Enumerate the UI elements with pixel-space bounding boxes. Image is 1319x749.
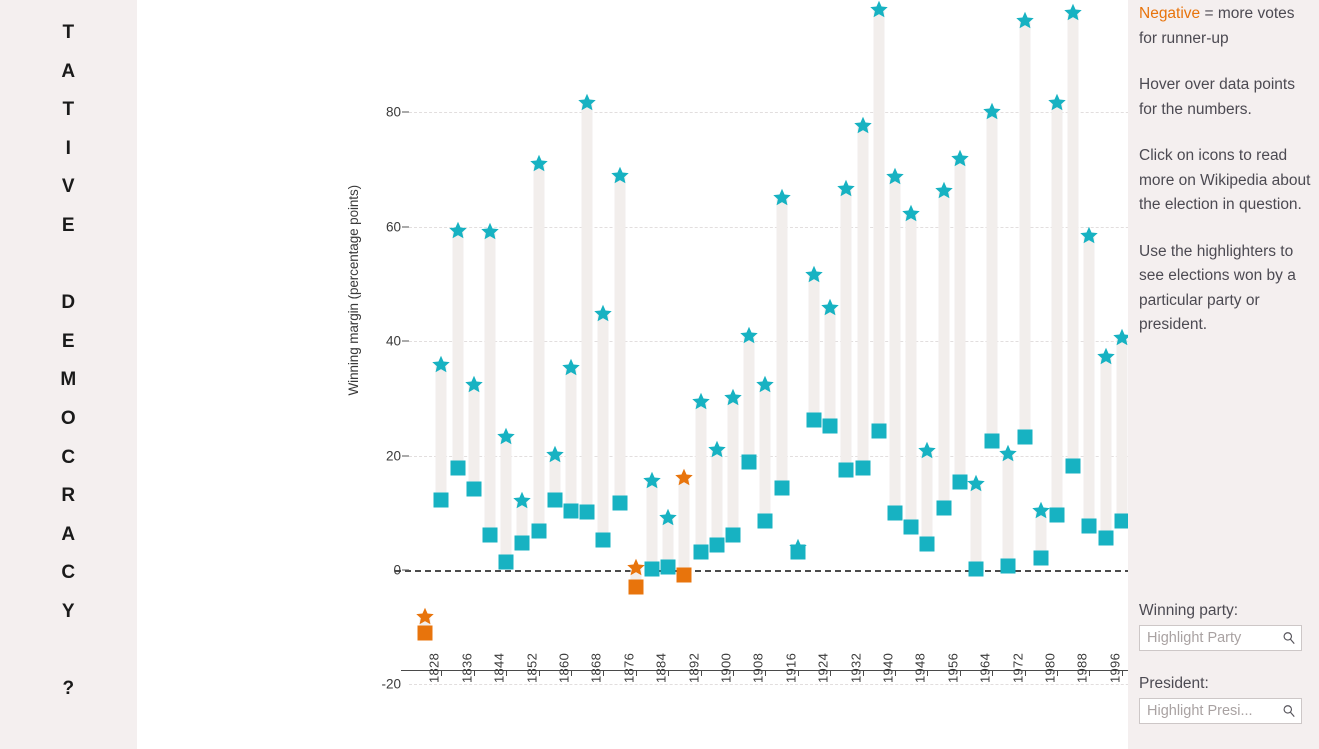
- title-letter: ?: [0, 670, 137, 709]
- electoral-margin-star[interactable]: [432, 355, 451, 374]
- plot-area: [409, 0, 1219, 670]
- electoral-margin-star[interactable]: [1080, 226, 1099, 245]
- election-bar: [938, 190, 949, 507]
- electoral-margin-star[interactable]: [659, 508, 678, 527]
- electoral-margin-star[interactable]: [950, 149, 969, 168]
- gridline: [409, 684, 1219, 685]
- spacer: [1139, 122, 1311, 144]
- x-tick-label: 1924: [816, 653, 831, 683]
- title-letter: A: [0, 53, 137, 92]
- electoral-margin-star[interactable]: [626, 558, 645, 577]
- election-bar: [598, 313, 609, 540]
- election-bar: [728, 397, 739, 535]
- electoral-margin-star[interactable]: [934, 181, 953, 200]
- title-letter: T: [0, 91, 137, 130]
- title-letter: E: [0, 207, 137, 246]
- election-bar: [760, 384, 771, 521]
- election-bar: [971, 483, 982, 569]
- electoral-margin-star[interactable]: [464, 375, 483, 394]
- popular-margin-square[interactable]: [531, 523, 546, 538]
- election-bar: [647, 480, 658, 570]
- title-letter: C: [0, 554, 137, 593]
- x-tick-mark: [603, 670, 604, 676]
- electoral-margin-star[interactable]: [481, 221, 500, 240]
- popular-margin-square[interactable]: [1098, 530, 1113, 545]
- popular-margin-square[interactable]: [758, 513, 773, 528]
- election-bar: [809, 274, 820, 420]
- note-negative-definition: Negative = more votes for runner-up: [1139, 2, 1311, 51]
- title-letter: O: [0, 400, 137, 439]
- president-input[interactable]: [1147, 703, 1282, 719]
- x-tick-label: 1988: [1075, 653, 1090, 683]
- electoral-margin-star[interactable]: [1096, 346, 1115, 365]
- popular-margin-square[interactable]: [515, 535, 530, 550]
- election-bar: [679, 477, 690, 574]
- note-hover: Hover over data points for the numbers.: [1139, 73, 1311, 122]
- election-bar: [857, 125, 868, 468]
- y-tick-label: 80: [337, 105, 401, 120]
- popular-margin-square[interactable]: [580, 505, 595, 520]
- x-tick-label: 1940: [881, 653, 896, 683]
- popular-margin-square[interactable]: [1017, 430, 1032, 445]
- popular-margin-square[interactable]: [418, 625, 433, 640]
- x-tick-mark: [765, 670, 766, 676]
- electoral-margin-star[interactable]: [643, 470, 662, 489]
- x-tick-label: 1868: [589, 653, 604, 683]
- electoral-margin-star[interactable]: [837, 179, 856, 198]
- x-tick-label: 1980: [1043, 653, 1058, 683]
- election-bar: [501, 436, 512, 562]
- x-tick-label: 1956: [945, 653, 960, 683]
- popular-margin-square[interactable]: [709, 538, 724, 553]
- electoral-margin-star[interactable]: [545, 445, 564, 464]
- title-letter: I: [0, 130, 137, 169]
- x-tick-label: 1828: [427, 653, 442, 683]
- popular-margin-square[interactable]: [952, 474, 967, 489]
- electoral-margin-star[interactable]: [691, 392, 710, 411]
- election-bar: [582, 102, 593, 512]
- note-negative-keyword: Negative: [1139, 5, 1200, 22]
- electoral-margin-star[interactable]: [529, 153, 548, 172]
- electoral-margin-star[interactable]: [740, 326, 759, 345]
- electoral-margin-star[interactable]: [448, 220, 467, 239]
- popular-margin-square[interactable]: [499, 554, 514, 569]
- left-title-rail: TATIVE.DEMOCRACY.?: [0, 0, 137, 749]
- y-tick-label: 40: [337, 334, 401, 349]
- electoral-margin-star[interactable]: [513, 490, 532, 509]
- election-bar: [1052, 102, 1063, 514]
- election-bar: [841, 188, 852, 470]
- popular-margin-square[interactable]: [807, 413, 822, 428]
- x-tick-mark: [1089, 670, 1090, 676]
- x-tick-label: 1948: [913, 653, 928, 683]
- electoral-margin-star[interactable]: [821, 297, 840, 316]
- electoral-margin-star[interactable]: [772, 188, 791, 207]
- search-icon[interactable]: [1282, 631, 1296, 645]
- popular-margin-square[interactable]: [1001, 558, 1016, 573]
- x-tick-label: 1900: [719, 653, 734, 683]
- electoral-margin-star[interactable]: [869, 0, 888, 19]
- title-letter: R: [0, 477, 137, 516]
- x-tick-label: 1860: [557, 653, 572, 683]
- president-label: President:: [1139, 675, 1302, 693]
- title-letter: D: [0, 284, 137, 323]
- x-tick-label: 1932: [848, 653, 863, 683]
- electoral-margin-star[interactable]: [416, 606, 435, 625]
- election-bar: [695, 401, 706, 552]
- electoral-margin-star[interactable]: [983, 101, 1002, 120]
- electoral-margin-star[interactable]: [853, 115, 872, 134]
- election-bar: [1003, 453, 1014, 566]
- x-tick-mark: [441, 670, 442, 676]
- popular-margin-square[interactable]: [645, 562, 660, 577]
- y-tick-label: -20: [337, 677, 401, 692]
- x-tick-label: 1964: [978, 653, 993, 683]
- electoral-margin-star[interactable]: [675, 468, 694, 487]
- x-tick-label: 1884: [654, 653, 669, 683]
- popular-margin-square[interactable]: [466, 481, 481, 496]
- title-letter: E: [0, 323, 137, 362]
- election-bar: [825, 307, 836, 426]
- popular-margin-square[interactable]: [726, 528, 741, 543]
- electoral-margin-star[interactable]: [707, 439, 726, 458]
- popular-margin-square[interactable]: [936, 500, 951, 515]
- popular-margin-square[interactable]: [1082, 518, 1097, 533]
- election-bar: [954, 158, 965, 482]
- election-bar: [922, 450, 933, 544]
- popular-margin-square[interactable]: [790, 545, 805, 560]
- winning-party-label: Winning party:: [1139, 602, 1302, 620]
- y-tick-label: 60: [337, 219, 401, 234]
- dashboard-root: TATIVE.DEMOCRACY.? Winning margin (perce…: [0, 0, 1319, 749]
- electoral-margin-star[interactable]: [918, 440, 937, 459]
- title-letter: C: [0, 439, 137, 478]
- y-tick-mark: [402, 570, 409, 571]
- x-tick-label: 1836: [459, 653, 474, 683]
- popular-margin-square[interactable]: [742, 455, 757, 470]
- popular-margin-square[interactable]: [677, 567, 692, 582]
- election-bar: [614, 175, 625, 502]
- election-bar: [744, 335, 755, 462]
- x-tick-label: 1996: [1107, 653, 1122, 683]
- president-filter[interactable]: [1139, 698, 1302, 724]
- election-bar: [533, 163, 544, 531]
- zero-baseline: [395, 570, 1221, 572]
- x-tick-label: 1916: [783, 653, 798, 683]
- election-bar: [1019, 20, 1030, 438]
- popular-margin-square[interactable]: [823, 418, 838, 433]
- y-tick-label: 20: [337, 448, 401, 463]
- spacer: [1139, 218, 1311, 240]
- electoral-margin-star[interactable]: [756, 374, 775, 393]
- x-tick-label: 1972: [1010, 653, 1025, 683]
- right-sidebar: Negative = more votes for runner-up Hove…: [1128, 0, 1319, 749]
- electoral-margin-star[interactable]: [610, 166, 629, 185]
- popular-margin-square[interactable]: [774, 480, 789, 495]
- election-bar: [485, 231, 496, 535]
- x-tick-label: 1852: [524, 653, 539, 683]
- popular-margin-square[interactable]: [450, 461, 465, 476]
- chart-pane: Winning margin (percentage points) -2002…: [137, 0, 1128, 749]
- popular-margin-square[interactable]: [871, 424, 886, 439]
- election-bar: [873, 9, 884, 431]
- y-axis-label: Winning margin (percentage points): [346, 185, 361, 395]
- title-letter: A: [0, 516, 137, 555]
- election-bar: [890, 176, 901, 513]
- x-tick-label: 1844: [492, 653, 507, 683]
- electoral-margin-star[interactable]: [578, 93, 597, 112]
- popular-margin-square[interactable]: [612, 495, 627, 510]
- popular-margin-square[interactable]: [839, 463, 854, 478]
- electoral-margin-star[interactable]: [1064, 2, 1083, 21]
- electoral-margin-star[interactable]: [562, 357, 581, 376]
- election-bar: [452, 230, 463, 469]
- popular-margin-square[interactable]: [1066, 458, 1081, 473]
- popular-margin-square[interactable]: [661, 559, 676, 574]
- popular-margin-square[interactable]: [693, 545, 708, 560]
- title-letter: V: [0, 168, 137, 207]
- popular-margin-square[interactable]: [434, 492, 449, 507]
- electoral-margin-star[interactable]: [1048, 93, 1067, 112]
- title-letter: Y: [0, 593, 137, 632]
- electoral-margin-star[interactable]: [1015, 10, 1034, 29]
- electoral-margin-star[interactable]: [497, 426, 516, 445]
- election-bar: [1100, 356, 1111, 538]
- electoral-margin-star[interactable]: [999, 443, 1018, 462]
- election-bar: [906, 213, 917, 527]
- popular-margin-square[interactable]: [1050, 507, 1065, 522]
- title-letter: M: [0, 361, 137, 400]
- electoral-margin-star[interactable]: [1031, 500, 1050, 519]
- election-bar: [468, 384, 479, 489]
- vertical-page-title: TATIVE.DEMOCRACY.?: [0, 14, 137, 709]
- y-tick-label: 0: [337, 563, 401, 578]
- note-highlighters: Use the highlighters to see elections wo…: [1139, 240, 1311, 338]
- popular-margin-square[interactable]: [904, 520, 919, 535]
- x-tick-mark: [927, 670, 928, 676]
- election-bar: [711, 449, 722, 546]
- filter-controls: Winning party: President:: [1139, 602, 1302, 724]
- electoral-margin-star[interactable]: [724, 387, 743, 406]
- electoral-margin-star[interactable]: [902, 204, 921, 223]
- election-bar: [987, 111, 998, 441]
- x-tick-label: 1908: [751, 653, 766, 683]
- y-tick-mark: [402, 455, 409, 456]
- election-bar: [1084, 235, 1095, 526]
- note-click-icons: Click on icons to read more on Wikipedia…: [1139, 144, 1311, 218]
- electoral-margin-star[interactable]: [967, 474, 986, 493]
- popular-margin-square[interactable]: [564, 503, 579, 518]
- popular-margin-square[interactable]: [1033, 550, 1048, 565]
- election-bar: [436, 364, 447, 500]
- gridline: [409, 112, 1219, 113]
- electoral-margin-star[interactable]: [805, 264, 824, 283]
- popular-margin-square[interactable]: [920, 537, 935, 552]
- popular-margin-square[interactable]: [483, 528, 498, 543]
- gridline: [409, 456, 1219, 457]
- title-letter: T: [0, 14, 137, 53]
- popular-margin-square[interactable]: [888, 506, 903, 521]
- x-tick-label: 1876: [621, 653, 636, 683]
- y-tick-mark: [402, 341, 409, 342]
- winning-party-input[interactable]: [1147, 630, 1282, 646]
- spacer: [1139, 51, 1311, 73]
- election-bar: [566, 367, 577, 511]
- election-bar: [1116, 337, 1127, 521]
- popular-margin-square[interactable]: [985, 433, 1000, 448]
- y-tick-mark: [402, 226, 409, 227]
- popular-margin-square[interactable]: [547, 493, 562, 508]
- electoral-margin-star[interactable]: [594, 303, 613, 322]
- notes-panel: Negative = more votes for runner-up Hove…: [1139, 2, 1311, 338]
- popular-margin-square[interactable]: [969, 561, 984, 576]
- winning-party-filter[interactable]: [1139, 625, 1302, 651]
- popular-margin-square[interactable]: [628, 580, 643, 595]
- popular-margin-square[interactable]: [596, 532, 611, 547]
- electoral-margin-star[interactable]: [886, 167, 905, 186]
- election-bar: [776, 197, 787, 488]
- popular-margin-square[interactable]: [855, 461, 870, 476]
- y-tick-mark: [402, 112, 409, 113]
- election-bar: [1068, 12, 1079, 466]
- search-icon[interactable]: [1282, 704, 1296, 718]
- x-tick-label: 1892: [686, 653, 701, 683]
